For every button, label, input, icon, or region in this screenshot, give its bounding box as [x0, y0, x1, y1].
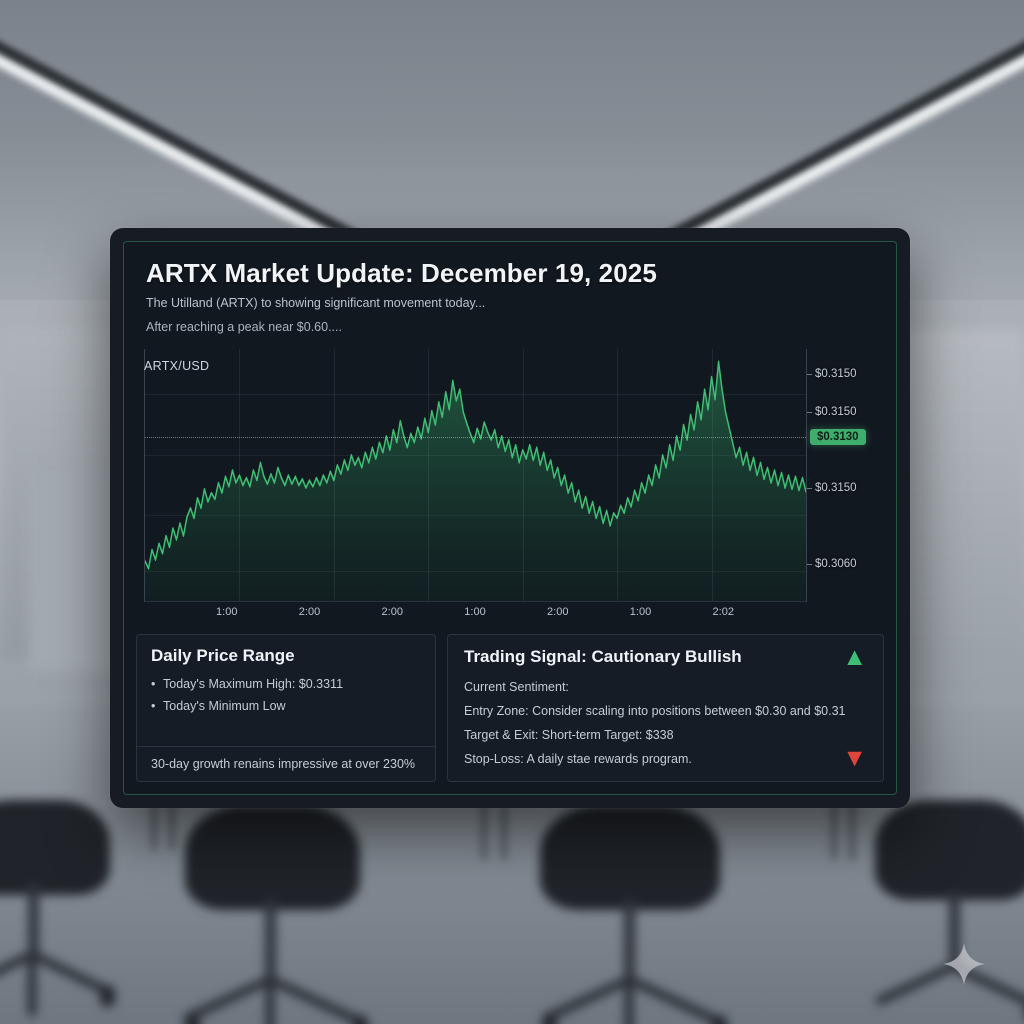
list-item: Today's Maximum High: $0.3311 — [151, 674, 421, 696]
chart-x-axis: 1:002:002:001:002:001:002:02 — [144, 604, 806, 624]
daily-price-range-card: Daily Price Range Today's Maximum High: … — [136, 634, 436, 782]
current-price-line — [145, 437, 806, 438]
x-axis-tick-label: 2:00 — [382, 606, 403, 618]
y-axis-tick-label: $0.3150 — [815, 482, 857, 494]
x-axis-tick-label: 1:00 — [464, 606, 485, 618]
grid-line-horizontal — [145, 394, 806, 395]
trading-signal-card: Trading Signal: Cautionary Bullish Curre… — [447, 634, 884, 782]
arrow-up-icon: ▲ — [842, 645, 867, 670]
signal-line: Stop-Loss: A daily stae rewards program. — [464, 747, 867, 771]
page-title: ARTX Market Update: December 19, 2025 — [146, 258, 874, 289]
trading-signal-title: Trading Signal: Cautionary Bullish — [464, 647, 867, 667]
summary-cards: Daily Price Range Today's Maximum High: … — [124, 624, 896, 794]
arrow-down-icon: ▼ — [842, 746, 867, 771]
grid-line-vertical — [239, 349, 240, 602]
list-item: Today's Minimum Low — [151, 696, 421, 718]
grid-line-horizontal — [145, 571, 806, 572]
x-axis-tick-label: 2:00 — [299, 606, 320, 618]
sparkle-icon — [942, 942, 986, 986]
grid-line-horizontal — [145, 455, 806, 456]
daily-price-range-list: Today's Maximum High: $0.3311Today's Min… — [151, 674, 421, 717]
dashboard-screen: ARTX Market Update: December 19, 2025 Th… — [123, 241, 897, 795]
current-price-badge: $0.3130 — [810, 429, 866, 445]
grid-line-vertical — [617, 349, 618, 602]
chart-y-axis: $0.3150$0.3150$0.3150$0.3060$0.3130 — [806, 349, 884, 603]
x-axis-tick-label: 2:00 — [547, 606, 568, 618]
daily-price-range-title: Daily Price Range — [151, 646, 421, 666]
grid-line-vertical — [523, 349, 524, 602]
signal-line: Target & Exit: Short-term Target: $338 — [464, 723, 867, 747]
monitor-bezel: ARTX Market Update: December 19, 2025 Th… — [110, 228, 910, 808]
grid-line-horizontal — [145, 515, 806, 516]
dashboard-header: ARTX Market Update: December 19, 2025 Th… — [124, 242, 896, 341]
grid-line-vertical — [334, 349, 335, 602]
subtitle-line-2: After reaching a peak near $0.60.... — [146, 319, 874, 337]
growth-note: 30-day growth renains impressive at over… — [137, 746, 435, 781]
price-line-series — [145, 349, 806, 602]
subtitle-line-1: The Utilland (ARTX) to showing significa… — [146, 295, 874, 313]
y-axis-tick-label: $0.3060 — [815, 558, 857, 570]
chart-plot-area[interactable] — [144, 349, 806, 603]
grid-line-vertical — [428, 349, 429, 602]
price-chart[interactable]: ARTX/USD $0.3150$0.3150$0.3150$0.3060$0.… — [134, 349, 884, 625]
signal-line: Entry Zone: Consider scaling into positi… — [464, 699, 867, 723]
x-axis-tick-label: 1:00 — [216, 606, 237, 618]
x-axis-tick-label: 1:00 — [630, 606, 651, 618]
y-axis-tick-label: $0.3150 — [815, 368, 857, 380]
chart-pair-label: ARTX/USD — [144, 359, 209, 373]
trading-signal-lines: Current Sentiment:Entry Zone: Consider s… — [464, 675, 867, 771]
y-axis-tick-label: $0.3150 — [815, 406, 857, 418]
grid-line-vertical — [712, 349, 713, 602]
signal-line: Current Sentiment: — [464, 675, 867, 699]
x-axis-tick-label: 2:02 — [713, 606, 734, 618]
